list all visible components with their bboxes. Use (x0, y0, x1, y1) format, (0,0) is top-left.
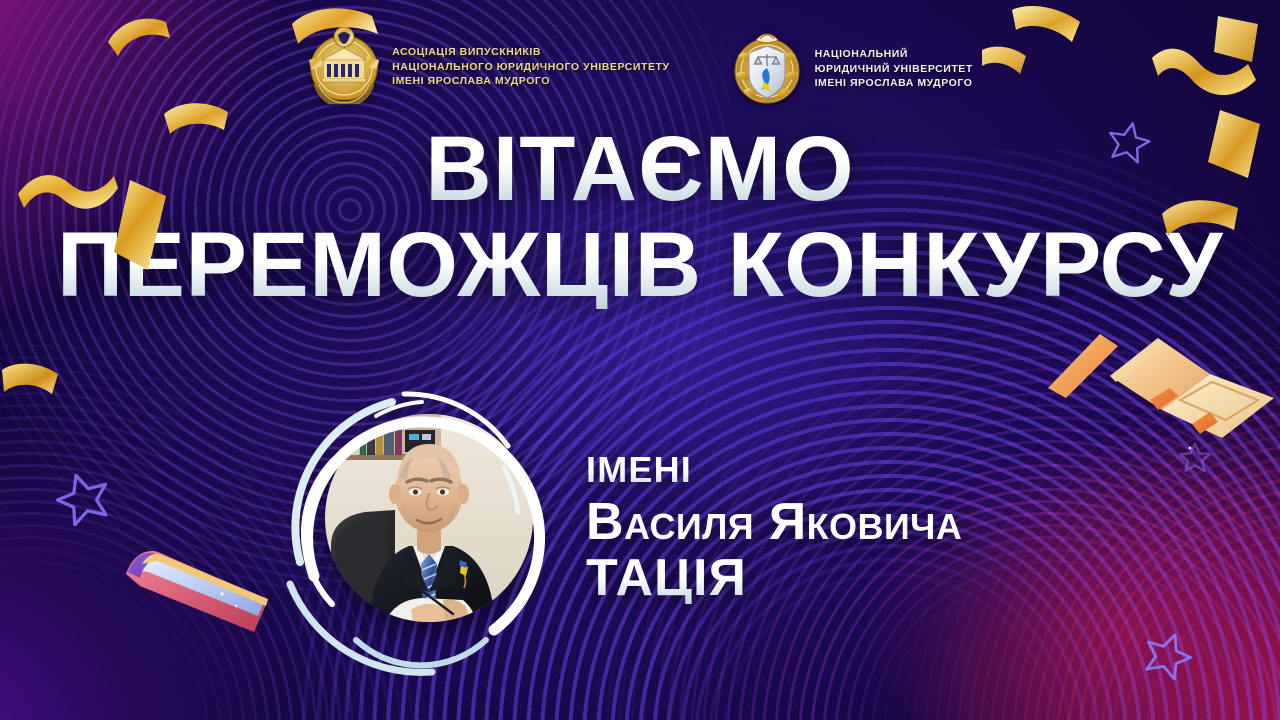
logo2-line-3: ІМЕНІ ЯРОСЛАВА МУДРОГО (815, 78, 973, 90)
logo2-line-1: НАЦІОНАЛЬНИЙ (815, 49, 973, 61)
headline-line-2: ПЕРЕМОЖЦІВ КОНКУРСУ (0, 222, 1280, 308)
outline-star-icon (1142, 628, 1194, 680)
logo2-line-2: ЮРИДИЧНИЙ УНІВЕРСИТЕТ (815, 64, 973, 76)
circular-arc-frame-icon (272, 372, 572, 692)
gold-open-book-icon (1106, 336, 1280, 468)
logo1-line-1: АСОЦІАЦІЯ ВИПУСКНИКІВ (392, 47, 669, 59)
alumni-association-logo-text: АСОЦІАЦІЯ ВИПУСКНИКІВ НАЦІОНАЛЬНОГО ЮРИД… (392, 47, 669, 88)
award-name-given: Василя Яковича (586, 496, 962, 548)
headline-line-1: ВІТАЄМО (0, 126, 1280, 212)
award-name-block: ІМЕНІ Василя Яковича ТАЦІЯ (586, 452, 962, 604)
poster-canvas: АСОЦІАЦІЯ ВИПУСКНИКІВ НАЦІОНАЛЬНОГО ЮРИД… (0, 0, 1280, 720)
award-name-surname: ТАЦІЯ (586, 552, 962, 604)
university-logo-text: НАЦІОНАЛЬНИЙ ЮРИДИЧНИЙ УНІВЕРСИТЕТ ІМЕНІ… (815, 49, 973, 90)
gold-ribbon-confetti-icon (0, 360, 62, 414)
university-logo: НАЦІОНАЛЬНИЙ ЮРИДИЧНИЙ УНІВЕРСИТЕТ ІМЕНІ… (730, 26, 973, 113)
logo1-line-3: ІМЕНІ ЯРОСЛАВА МУДРОГО (392, 76, 669, 88)
alumni-association-emblem-icon (307, 26, 381, 109)
outline-star-icon (54, 468, 112, 526)
logo1-line-2: НАЦІОНАЛЬНОГО ЮРИДИЧНОГО УНІВЕРСИТЕТУ (392, 62, 669, 74)
outline-star-icon (1178, 440, 1212, 474)
portrait-block (272, 372, 572, 692)
alumni-association-logo: АСОЦІАЦІЯ ВИПУСКНИКІВ НАЦІОНАЛЬНОГО ЮРИД… (307, 26, 669, 109)
pink-closed-book-icon (118, 528, 288, 658)
award-name-prefix: ІМЕНІ (586, 452, 962, 488)
headline-block: ВІТАЄМО ПЕРЕМОЖЦІВ КОНКУРСУ (0, 126, 1280, 309)
header-logos: АСОЦІАЦІЯ ВИПУСКНИКІВ НАЦІОНАЛЬНОГО ЮРИД… (0, 26, 1280, 113)
university-shield-emblem-icon (730, 26, 804, 113)
gold-ribbon-confetti-icon (1044, 330, 1140, 400)
